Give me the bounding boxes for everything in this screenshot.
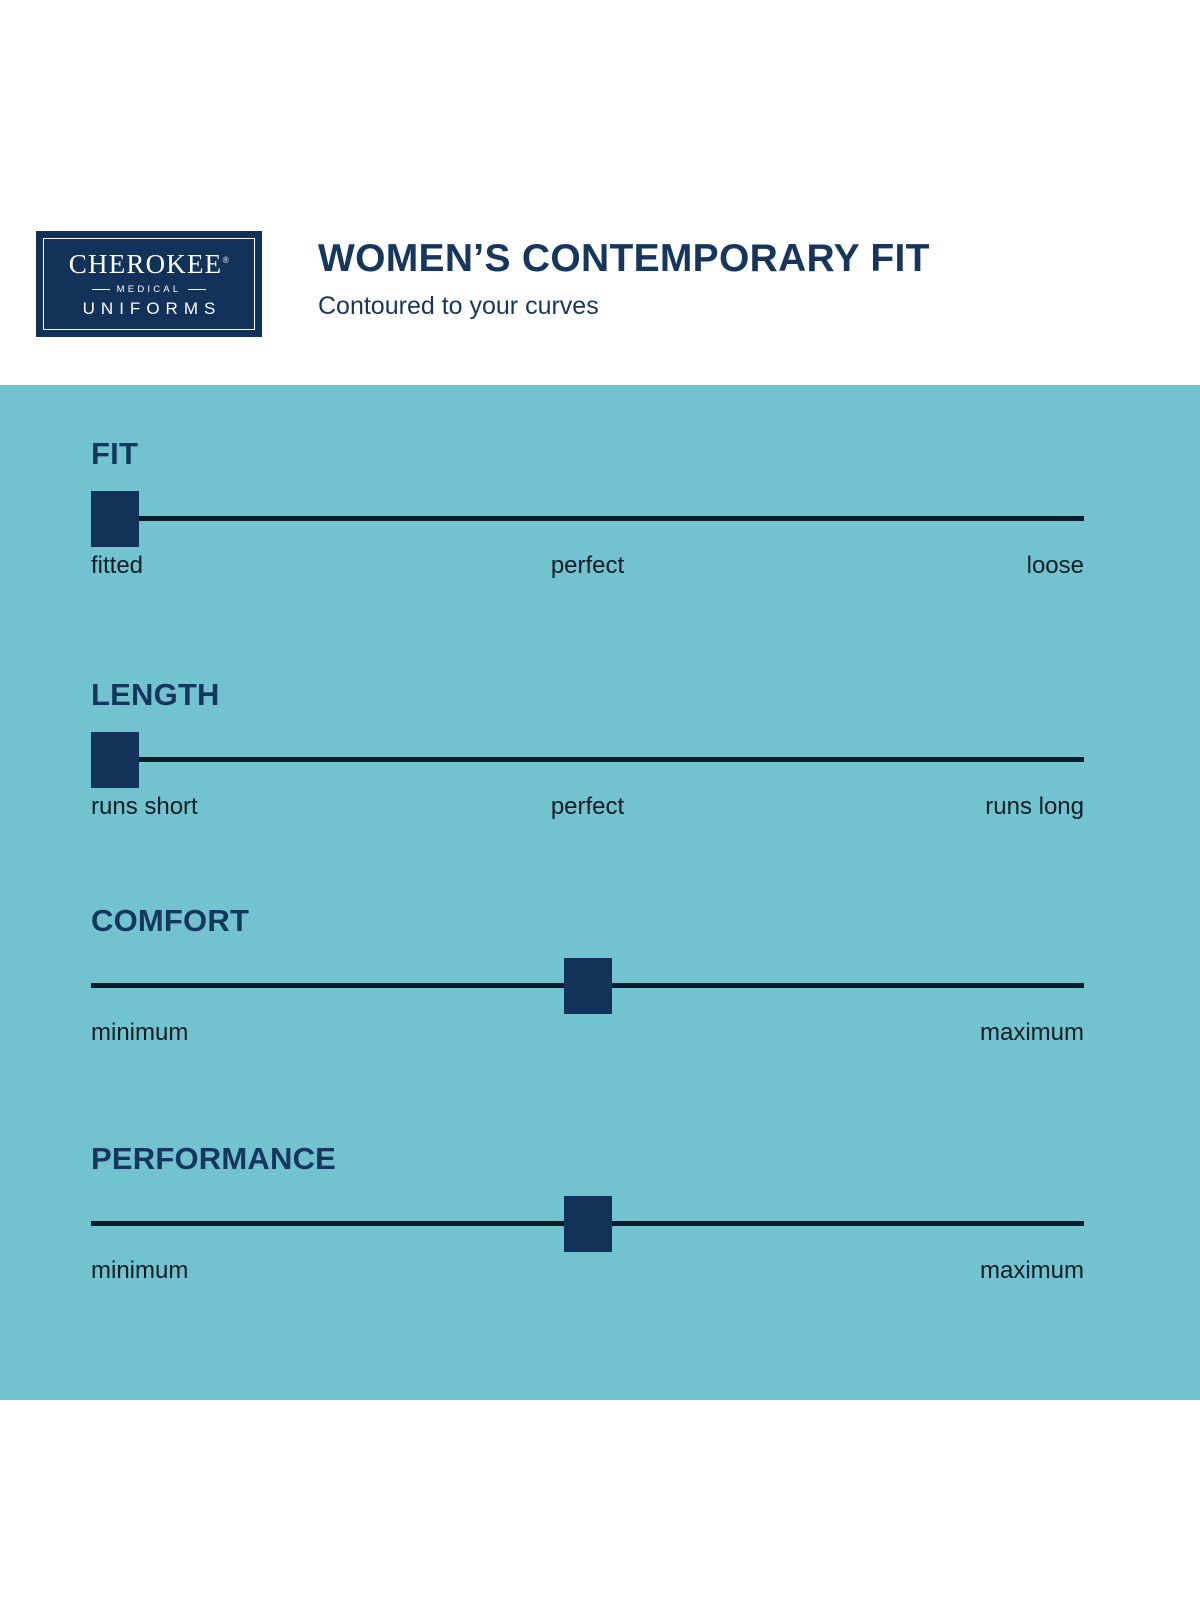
meter-comfort-scale-labels: minimum maximum (91, 1018, 1084, 1052)
meter-comfort-label-right: maximum (980, 1018, 1084, 1048)
meter-length-title: LENGTH (91, 679, 1084, 710)
meter-length-label-right: runs long (985, 792, 1084, 822)
meter-performance-scale-labels: minimum maximum (91, 1256, 1084, 1290)
meter-performance: PERFORMANCE minimum maximum (91, 1143, 1084, 1290)
logo-uniforms-text: UNIFORMS (77, 300, 222, 317)
logo-border-frame: CHEROKEE® MEDICAL UNIFORMS (43, 238, 255, 330)
meter-comfort-label-left: minimum (91, 1018, 188, 1048)
meter-length-marker[interactable] (91, 732, 139, 788)
meter-performance-track[interactable] (91, 1192, 1084, 1254)
registered-trademark-icon: ® (222, 255, 229, 265)
meter-performance-title: PERFORMANCE (91, 1143, 1084, 1174)
meter-comfort-title: COMFORT (91, 905, 1084, 936)
header: CHEROKEE® MEDICAL UNIFORMS WOMEN’S CONTE… (0, 0, 1200, 385)
logo-rule-right-icon (188, 289, 206, 290)
meter-performance-marker[interactable] (564, 1196, 612, 1252)
meter-length-scale-labels: runs short perfect runs long (91, 792, 1084, 826)
meter-fit-marker[interactable] (91, 491, 139, 547)
meter-fit-scale-labels: fitted perfect loose (91, 551, 1084, 585)
meter-fit-label-middle: perfect (551, 551, 624, 581)
meter-performance-label-right: maximum (980, 1256, 1084, 1286)
meter-length-label-left: runs short (91, 792, 198, 822)
meter-length-track-line (91, 757, 1084, 762)
meter-length-track[interactable] (91, 728, 1084, 790)
meter-fit: FIT fitted perfect loose (91, 438, 1084, 585)
logo-rule-left-icon (92, 289, 110, 290)
cherokee-medical-uniforms-logo: CHEROKEE® MEDICAL UNIFORMS (36, 231, 262, 337)
meter-comfort: COMFORT minimum maximum (91, 905, 1084, 1052)
page-title: WOMEN’S CONTEMPORARY FIT (318, 238, 1158, 280)
meter-fit-label-right: loose (1027, 551, 1084, 581)
meter-length-label-middle: perfect (551, 792, 624, 822)
page-subtitle: Contoured to your curves (318, 291, 1158, 321)
meter-fit-title: FIT (91, 438, 1084, 469)
meter-fit-track[interactable] (91, 487, 1084, 549)
meter-performance-label-left: minimum (91, 1256, 188, 1286)
fit-meters-panel: FIT fitted perfect loose LENGTH runs sho… (0, 385, 1200, 1400)
logo-brand-text: CHEROKEE (69, 249, 223, 279)
meter-length: LENGTH runs short perfect runs long (91, 679, 1084, 826)
meter-fit-track-line (91, 516, 1084, 521)
meter-comfort-marker[interactable] (564, 958, 612, 1014)
logo-brand-name: CHEROKEE® (69, 251, 229, 278)
header-text-block: WOMEN’S CONTEMPORARY FIT Contoured to yo… (318, 238, 1158, 321)
fit-guide-page: CHEROKEE® MEDICAL UNIFORMS WOMEN’S CONTE… (0, 0, 1200, 1600)
meter-comfort-track[interactable] (91, 954, 1084, 1016)
logo-medical-row: MEDICAL (92, 285, 207, 295)
logo-medical-text: MEDICAL (117, 285, 182, 295)
meter-fit-label-left: fitted (91, 551, 143, 581)
